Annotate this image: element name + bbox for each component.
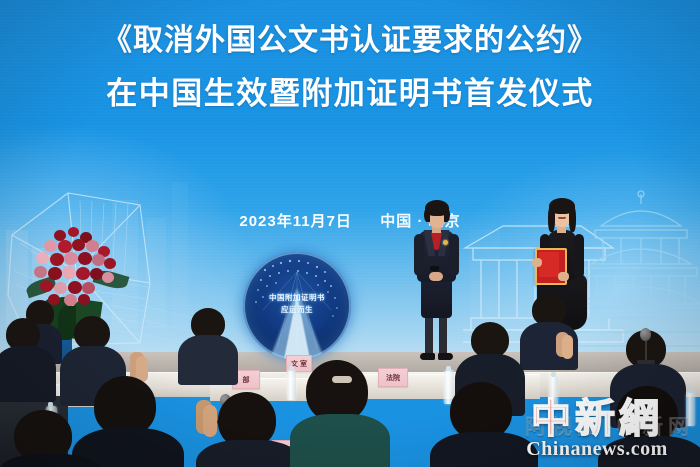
backdrop-title-block: 《取消外国公文书认证要求的公约》 在中国生效暨附加证明书首发仪式 <box>0 22 700 115</box>
event-emblem-orb: 中国附加证明书 应运而生 <box>243 252 351 360</box>
clapping-hands <box>196 400 218 440</box>
event-date: 2023年11月7日 <box>239 213 352 230</box>
watermark: 中新網 Chinanews.com <box>502 399 692 461</box>
audience-member-foreground <box>290 360 386 467</box>
watermark-english: Chinanews.com <box>502 438 692 461</box>
photo-canvas: 《取消外国公文书认证要求的公约》 在中国生效暨附加证明书首发仪式 2023年11… <box>0 0 700 467</box>
microphone <box>636 328 658 364</box>
event-title-line-2: 在中国生效暨附加证明书首发仪式 <box>0 74 700 114</box>
audience-member-foreground <box>0 410 96 467</box>
audience-member <box>0 318 52 398</box>
audience-member <box>178 308 236 378</box>
emblem-rim <box>243 252 351 360</box>
event-title-line-1: 《取消外国公文书认证要求的公约》 <box>0 22 700 60</box>
clapping-hands <box>556 332 574 362</box>
watermark-chinese: 中新網 <box>502 399 692 439</box>
